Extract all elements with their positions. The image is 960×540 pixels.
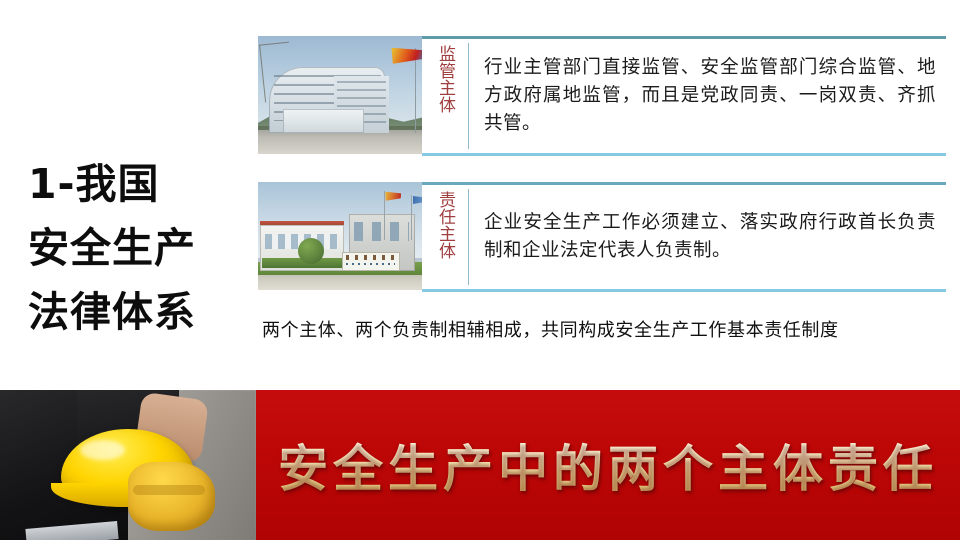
building-podium [283, 109, 363, 133]
card-label-vertical: 监管主体 [434, 45, 456, 113]
page-title: 1-我国 安全生产 法律体系 [28, 152, 248, 344]
tree-branch [259, 42, 295, 102]
card-body: 监管主体 行业主管部门直接监管、安全监管部门综合监管、地方政府属地监管，而且是党… [422, 36, 946, 156]
label-divider [468, 189, 469, 285]
card-text: 企业安全生产工作必须建立、落实政府行政首长负责制和企业法定代表人负责制。 [484, 209, 936, 265]
card-text: 行业主管部门直接监管、安全监管部门综合监管、地方政府属地监管，而且是党政同责、一… [484, 54, 936, 138]
photo-enterprise-plant [258, 182, 440, 290]
slide-root: 1-我国 安全生产 法律体系 监管主体 行业主管部门直接监管、安全监管部门综合监… [0, 0, 960, 540]
card-body: 责任主体 企业安全生产工作必须建立、落实政府行政首长负责制和企业法定代表人负责制… [422, 182, 946, 292]
work-glove-icon [128, 462, 215, 531]
photo-government-building [258, 36, 440, 154]
label-divider [468, 43, 469, 149]
bottom-band: 安全生产中的两个主体责任 [0, 390, 960, 540]
photo-worker-hardhat [0, 390, 256, 540]
tree-icon [298, 238, 324, 264]
summary-caption: 两个主体、两个负责制相辅相成，共同构成安全生产工作基本责任制度 [262, 316, 839, 342]
title-line-1: 1-我国 [28, 152, 248, 216]
flagpole-icon [384, 191, 386, 241]
title-line-3: 法律体系 [28, 280, 248, 344]
flagpole-secondary-icon [411, 195, 413, 240]
card-label-vertical: 责任主体 [434, 191, 456, 259]
card-responsibility-subject: 责任主体 企业安全生产工作必须建立、落实政府行政首长负责制和企业法定代表人负责制… [258, 182, 946, 292]
card-supervision-subject: 监管主体 行业主管部门直接监管、安全监管部门综合监管、地方政府属地监管，而且是党… [258, 36, 946, 156]
title-line-2: 安全生产 [28, 216, 248, 280]
company-signboard [342, 252, 400, 270]
red-banner: 安全生产中的两个主体责任 [256, 390, 960, 540]
flagpole-icon [415, 48, 417, 133]
banner-title: 安全生产中的两个主体责任 [256, 429, 960, 501]
